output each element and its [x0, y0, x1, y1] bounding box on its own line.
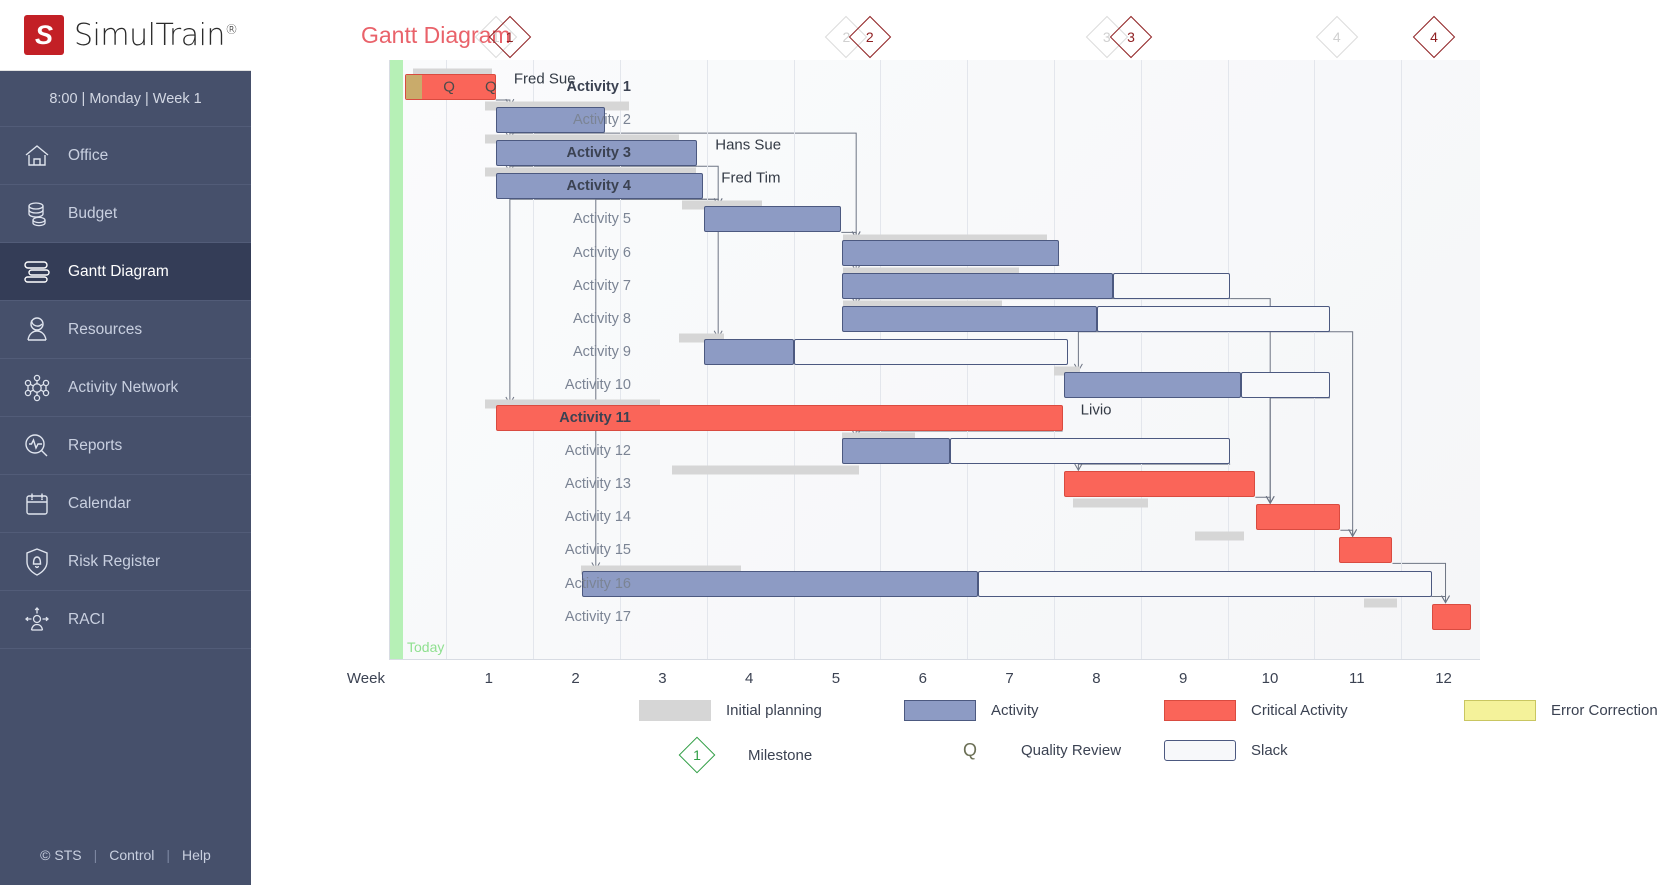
legend-item: Error Correction: [1464, 700, 1658, 721]
activity-row-label[interactable]: Activity 2: [431, 112, 631, 128]
week-axis: Week 123456789101112: [251, 660, 1480, 694]
registered-mark: ®: [225, 23, 238, 38]
initial-planning-bar: [672, 466, 859, 475]
activity-bar[interactable]: [704, 206, 841, 232]
activity-bar[interactable]: [842, 273, 1113, 299]
week-tick-label: 2: [571, 670, 579, 687]
shield-bell-icon: [14, 545, 60, 579]
legend-item: QQuality Review: [934, 740, 1121, 761]
dependency-link: [1270, 398, 1330, 503]
footer-separator-2: |: [166, 847, 170, 863]
sidebar-item-reports[interactable]: Reports: [0, 417, 251, 475]
sidebar-item-office[interactable]: Office: [0, 127, 251, 185]
activity-row-label[interactable]: Activity 10: [431, 377, 631, 393]
sidebar-footer: © STS | Control | Help: [0, 825, 251, 885]
sidebar-item-label: Gantt Diagram: [68, 263, 169, 281]
assigned-resource-label: Fred Tim: [721, 170, 780, 187]
milestone-number: 4: [1322, 22, 1352, 52]
chart-legend: Initial planningActivityCritical Activit…: [389, 700, 1549, 780]
network-icon: [14, 371, 60, 405]
week-tick-label: 6: [919, 670, 927, 687]
activity-row-label[interactable]: Activity 3: [431, 145, 631, 161]
activity-row-label[interactable]: Activity 14: [431, 509, 631, 525]
home-icon: [14, 139, 60, 173]
week-tick-label: 8: [1092, 670, 1100, 687]
critical-activity-bar[interactable]: [1432, 604, 1471, 630]
activity-row-label[interactable]: Activity 8: [431, 311, 631, 327]
sidebar-item-label: Office: [68, 147, 108, 165]
activity-row-label[interactable]: Activity 16: [431, 576, 631, 592]
slack-bar[interactable]: [950, 438, 1230, 464]
sidebar-item-budget[interactable]: Budget: [0, 185, 251, 243]
logo-text-label: SimulTrain: [74, 18, 225, 53]
dependency-arrowhead: [1266, 496, 1274, 503]
activity-bar[interactable]: [582, 571, 978, 597]
sidebar: S SimulTrain® 8:00 | Monday | Week 1 Off…: [0, 0, 251, 885]
legend-label: Critical Activity: [1251, 702, 1348, 719]
legend-swatch: [1464, 700, 1536, 721]
sidebar-item-risk-register[interactable]: Risk Register: [0, 533, 251, 591]
activity-row-label[interactable]: Activity 4: [431, 178, 631, 194]
legend-item: 1Milestone: [661, 740, 812, 770]
initial-planning-bar: [1195, 532, 1244, 541]
legend-label: Activity: [991, 702, 1039, 719]
activity-row-label[interactable]: Activity 5: [431, 211, 631, 227]
control-link[interactable]: Control: [109, 847, 154, 863]
milestone-number: 2: [855, 22, 885, 52]
help-link[interactable]: Help: [182, 847, 211, 863]
milestone-strip: 11223344: [389, 22, 1480, 62]
week-gridline: [1314, 60, 1315, 659]
gantt-chart: 11223344 Today QQFred SueHans SueFred Ti…: [251, 60, 1680, 700]
legend-item: Initial planning: [639, 700, 822, 721]
activity-row-label[interactable]: Activity 7: [431, 278, 631, 294]
sidebar-item-activity-network[interactable]: Activity Network: [0, 359, 251, 417]
activity-row-label[interactable]: Activity 17: [431, 609, 631, 625]
sidebar-item-label: Calendar: [68, 495, 131, 513]
legend-swatch: [904, 700, 976, 721]
week-tick-label: 1: [485, 670, 493, 687]
slack-bar[interactable]: [978, 571, 1432, 597]
activity-bar[interactable]: [704, 339, 793, 365]
today-band: [390, 60, 403, 659]
activity-row-label[interactable]: Activity 13: [431, 476, 631, 492]
dependency-link: [510, 199, 703, 404]
sidebar-item-calendar[interactable]: Calendar: [0, 475, 251, 533]
sim-clock: 8:00 | Monday | Week 1: [0, 71, 251, 127]
slack-bar[interactable]: [1097, 306, 1330, 332]
brand-logo[interactable]: S SimulTrain®: [0, 0, 251, 71]
legend-swatch: [1164, 700, 1236, 721]
dependency-arrowhead: [1266, 496, 1274, 503]
legend-item: Slack: [1164, 740, 1288, 761]
today-label: Today: [407, 639, 444, 655]
dependency-link: [1255, 497, 1270, 503]
assigned-resource-label: Livio: [1081, 402, 1112, 419]
legend-label: Milestone: [748, 747, 812, 764]
initial-planning-bar: [1364, 598, 1397, 607]
week-tick-label: 7: [1005, 670, 1013, 687]
week-tick-label: 9: [1179, 670, 1187, 687]
activity-row-label[interactable]: Activity 12: [431, 443, 631, 459]
critical-activity-bar[interactable]: [1256, 504, 1340, 530]
activity-bar[interactable]: [1064, 372, 1241, 398]
main-content: Gantt Diagram 11223344 Today QQFred SueH…: [251, 0, 1680, 885]
dependency-link: [1078, 332, 1330, 371]
legend-label: Quality Review: [1021, 742, 1121, 759]
slack-bar[interactable]: [794, 339, 1068, 365]
assigned-resource-label: Hans Sue: [715, 137, 781, 154]
calendar-icon: [14, 487, 60, 521]
week-tick-label: 4: [745, 670, 753, 687]
dependency-arrowhead: [1349, 529, 1357, 536]
dependency-arrowhead: [1074, 463, 1082, 470]
legend-row-secondary: 1MilestoneQQuality ReviewSlack: [389, 740, 1549, 780]
initial-planning-bar: [1073, 499, 1148, 508]
activity-bar[interactable]: [842, 240, 1059, 266]
week-gridline: [1228, 60, 1229, 659]
week-axis-title: Week: [265, 670, 385, 687]
activity-bar[interactable]: [842, 306, 1097, 332]
legend-label: Error Correction: [1551, 702, 1658, 719]
sidebar-item-label: Budget: [68, 205, 117, 223]
dependency-arrowhead: [1266, 496, 1274, 503]
legend-label: Initial planning: [726, 702, 822, 719]
logo-text: SimulTrain®: [74, 18, 237, 53]
logo-mark: S: [24, 15, 64, 55]
legend-swatch: [639, 700, 711, 721]
footer-separator-1: |: [94, 847, 98, 863]
activity-row-label[interactable]: Activity 6: [431, 245, 631, 261]
legend-item: Critical Activity: [1164, 700, 1348, 721]
legend-item: Activity: [904, 700, 1039, 721]
week-tick-label: 10: [1262, 670, 1279, 687]
dependency-link: [1340, 530, 1352, 536]
slack-bar[interactable]: [1113, 273, 1230, 299]
milestone-number: 3: [1116, 22, 1146, 52]
sidebar-item-label: Activity Network: [68, 379, 178, 397]
sidebar-item-resources[interactable]: Resources: [0, 301, 251, 359]
week-gridline: [1141, 60, 1142, 659]
sidebar-item-gantt-diagram[interactable]: Gantt Diagram: [0, 243, 251, 301]
milestone-diamond-icon: 1: [661, 740, 733, 770]
slack-bar[interactable]: [1241, 372, 1330, 398]
gantt-icon: [14, 255, 60, 289]
activity-row-label[interactable]: Activity 1: [431, 79, 631, 95]
week-tick-label: 3: [658, 670, 666, 687]
activity-row-label[interactable]: Activity 9: [431, 344, 631, 360]
week-tick-label: 12: [1435, 670, 1452, 687]
dependency-arrowhead: [1442, 596, 1450, 603]
legend-swatch: [1164, 740, 1236, 761]
activity-row-label[interactable]: Activity 15: [431, 542, 631, 558]
activity-bar[interactable]: [842, 438, 950, 464]
legend-row-primary: Initial planningActivityCritical Activit…: [389, 700, 1549, 740]
person-icon: [14, 313, 60, 347]
legend-label: Slack: [1251, 742, 1288, 759]
week-tick-label: 11: [1349, 670, 1365, 687]
critical-activity-bar[interactable]: [1064, 471, 1255, 497]
dependency-link: [1432, 597, 1446, 603]
sidebar-item-raci[interactable]: RACI: [0, 591, 251, 649]
quality-review-icon: Q: [934, 740, 1006, 761]
raci-icon: [14, 603, 60, 637]
app-root: S SimulTrain® 8:00 | Monday | Week 1 Off…: [0, 0, 1680, 885]
coins-icon: [14, 197, 60, 231]
week-tick-label: 5: [832, 670, 840, 687]
report-search-icon: [14, 429, 60, 463]
dependency-arrowhead: [1442, 596, 1450, 603]
copyright-label: © STS: [40, 847, 81, 863]
sidebar-item-label: Risk Register: [68, 553, 160, 571]
dependency-arrowhead: [1349, 529, 1357, 536]
critical-activity-bar[interactable]: [1339, 537, 1393, 563]
dependency-link: [1078, 464, 1230, 470]
activity-row-label[interactable]: Activity 11: [431, 410, 631, 426]
progress-segment: [406, 75, 422, 99]
sidebar-item-label: Reports: [68, 437, 122, 455]
milestone-number: 1: [495, 22, 525, 52]
week-gridline: [1401, 60, 1402, 659]
sidebar-item-label: RACI: [68, 611, 105, 629]
sidebar-item-label: Resources: [68, 321, 142, 339]
milestone-number: 4: [1419, 22, 1449, 52]
